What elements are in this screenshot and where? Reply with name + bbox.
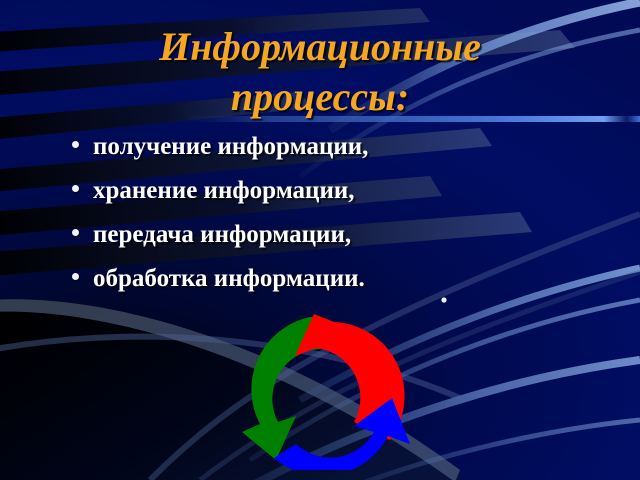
title-line-2: процессы: <box>60 72 580 122</box>
blue-arrow-icon <box>274 398 410 470</box>
slide-canvas: Информационные процессы: получение инфор… <box>0 0 640 480</box>
bullet-text: обработка информации. <box>93 264 365 294</box>
information-cycle-diagram <box>238 312 418 470</box>
bullet-dot-icon <box>72 141 79 148</box>
title-line-1: Информационные <box>60 22 580 72</box>
bullet-text: получение информации, <box>93 132 368 162</box>
bullet-dot-icon <box>72 273 79 280</box>
list-item: получение информации, <box>72 132 542 176</box>
bullet-list: получение информации, хранение информаци… <box>72 132 542 308</box>
bullet-text: хранение информации, <box>93 176 355 206</box>
slide-title: Информационные процессы: <box>60 22 580 122</box>
list-item: обработка информации. <box>72 264 542 308</box>
list-item: передача информации, <box>72 220 542 264</box>
bullet-dot-icon <box>72 185 79 192</box>
bullet-dot-icon <box>72 229 79 236</box>
bullet-text: передача информации, <box>93 220 351 250</box>
list-item: хранение информации, <box>72 176 542 220</box>
